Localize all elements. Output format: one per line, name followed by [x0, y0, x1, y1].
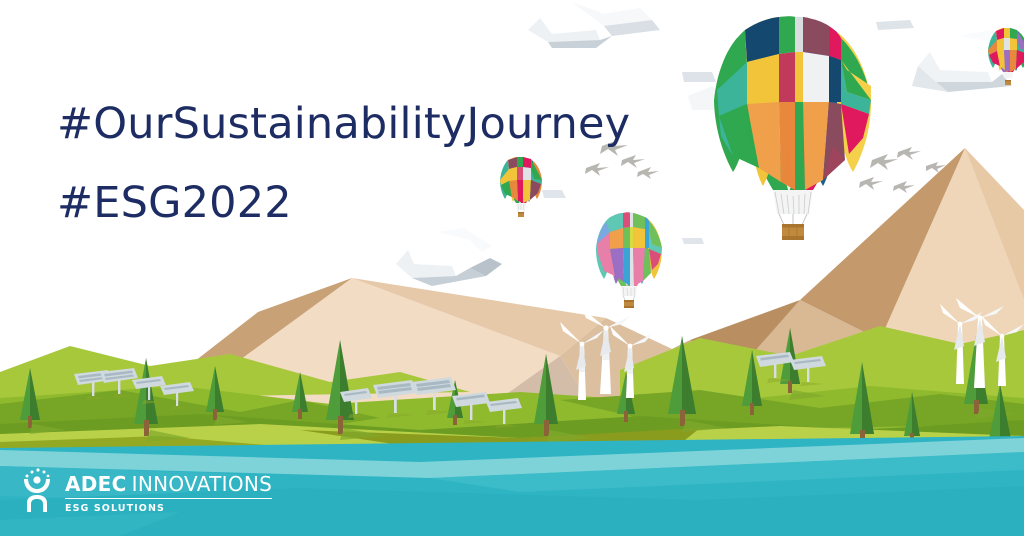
- esg-banner: #OurSustainabilityJourney #ESG2022: [0, 0, 1024, 536]
- logo-wordmark: ADEC INNOVATIONS ESG SOLUTIONS: [65, 472, 272, 514]
- headline-line-1: #OurSustainabilityJourney: [57, 102, 630, 148]
- logo-brand-row: ADEC INNOVATIONS: [65, 472, 272, 499]
- headline-line-2: #ESG2022: [57, 181, 630, 227]
- logo-tagline: ESG SOLUTIONS: [65, 503, 272, 514]
- headline: #OurSustainabilityJourney #ESG2022: [57, 68, 630, 261]
- logo-brand-bold: ADEC: [65, 472, 127, 496]
- adec-logo[interactable]: ADEC INNOVATIONS ESG SOLUTIONS: [18, 467, 272, 518]
- adec-person-icon: [18, 467, 56, 518]
- logo-brand-light: INNOVATIONS: [132, 472, 273, 496]
